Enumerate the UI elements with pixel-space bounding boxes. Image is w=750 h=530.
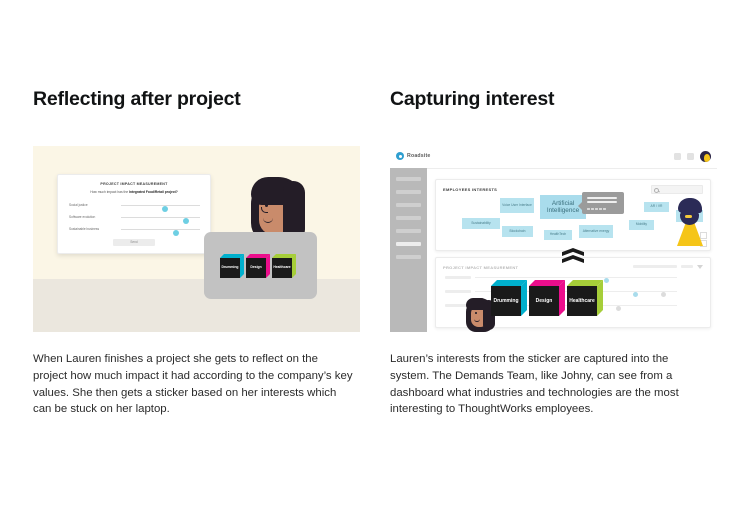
cube-side xyxy=(266,254,270,278)
cube-label: Drumming xyxy=(491,286,521,316)
interest-tag[interactable]: AR / VR xyxy=(644,202,669,212)
survey-slider-track[interactable] xyxy=(121,217,200,218)
interest-tag[interactable]: Alternative energy xyxy=(579,225,613,238)
interest-tag[interactable]: Blockchain xyxy=(502,226,533,237)
johny-character xyxy=(672,198,708,246)
impact-slider-knob[interactable] xyxy=(604,278,609,283)
project-impact-survey-card: PROJECT IMPACT MEASUREMENT How much impa… xyxy=(57,174,211,254)
sidebar-item[interactable] xyxy=(396,216,421,220)
survey-slider-track[interactable] xyxy=(121,229,200,230)
interest-tag[interactable]: Voice User Interface xyxy=(500,198,534,213)
logo-text: Roadsite xyxy=(407,153,431,159)
left-caption: When Lauren finishes a project she gets … xyxy=(33,351,353,418)
grid-icon[interactable] xyxy=(674,153,681,160)
survey-row: Social justice xyxy=(69,201,200,210)
cube-side xyxy=(292,254,296,278)
survey-row-label: Software evolution xyxy=(69,215,115,219)
interests-card-title: EMPLOYEES INTERESTS xyxy=(443,187,497,192)
survey-slider-knob[interactable] xyxy=(183,218,189,224)
hair xyxy=(678,198,702,213)
impact-row-label xyxy=(445,290,471,293)
tooltip-dots xyxy=(587,208,606,211)
dashboard-sidebar xyxy=(390,168,427,332)
survey-slider-knob[interactable] xyxy=(173,230,179,236)
laptop-lid: Drumming Design Healthcare xyxy=(204,232,317,299)
sticker-row: Drumming Design Healthcare xyxy=(220,254,296,278)
right-panel-title: Capturing interest xyxy=(390,88,554,111)
survey-row: Sustainable business xyxy=(69,225,200,234)
beard xyxy=(680,212,699,225)
sticker-cube: Healthcare xyxy=(272,254,296,278)
dashboard-header: Roadsite xyxy=(390,146,717,169)
impact-slider-track[interactable] xyxy=(475,277,677,278)
dashboard-cube: Design xyxy=(529,280,565,316)
avatar[interactable] xyxy=(700,151,711,162)
dashboard-sticker-row: Drumming Design Healthcare xyxy=(491,280,603,316)
cube-label: Design xyxy=(246,258,266,278)
impact-filter-controls[interactable] xyxy=(633,264,703,269)
survey-question-prefix: How much impact has the xyxy=(90,190,129,194)
sidebar-item[interactable] xyxy=(396,203,421,207)
interest-tag[interactable]: HealthTech xyxy=(544,230,572,240)
chevron-up-icon xyxy=(562,248,584,266)
survey-title: PROJECT IMPACT MEASUREMENT xyxy=(58,182,210,186)
tooltip-tail xyxy=(578,202,582,210)
reflecting-illustration: PROJECT IMPACT MEASUREMENT How much impa… xyxy=(33,146,360,332)
cube-side xyxy=(240,254,244,278)
impact-slider-knob[interactable] xyxy=(633,292,638,297)
mouth xyxy=(685,215,692,218)
header-icon-group xyxy=(674,151,711,162)
survey-slider-knob[interactable] xyxy=(162,206,168,212)
sidebar-item-active[interactable] xyxy=(396,242,421,246)
app-logo[interactable]: Roadsite xyxy=(396,152,431,160)
dashboard-cube: Drumming xyxy=(491,280,527,316)
project-impact-card: PROJECT IMPACT MEASUREMENT xyxy=(435,257,711,328)
sidebar-item[interactable] xyxy=(396,229,421,233)
cube-label: Drumming xyxy=(220,258,240,278)
tag-detail-tooltip xyxy=(582,192,624,214)
filter-bar[interactable] xyxy=(633,265,677,268)
filter-bar-secondary[interactable] xyxy=(681,265,693,268)
sidebar-item[interactable] xyxy=(396,190,421,194)
sidebar-item[interactable] xyxy=(396,177,421,181)
cube-label: Design xyxy=(529,286,559,316)
survey-row: Software evolution xyxy=(69,213,200,222)
sticker-cube: Drumming xyxy=(220,254,244,278)
employees-interests-card: EMPLOYEES INTERESTS Sustainability Voice… xyxy=(435,179,711,251)
capturing-illustration: Roadsite xyxy=(390,146,717,332)
eye xyxy=(475,312,477,314)
impact-row-label xyxy=(445,276,471,279)
cube-side xyxy=(597,280,603,316)
cube-side xyxy=(521,280,527,316)
survey-question: How much impact has the Integrated Food/… xyxy=(58,190,210,194)
chevron-down-icon[interactable] xyxy=(697,265,703,269)
left-panel-title: Reflecting after project xyxy=(33,88,241,111)
impact-slider-knob-secondary[interactable] xyxy=(616,306,621,311)
survey-row-label: Sustainable business xyxy=(69,227,115,231)
bell-icon[interactable] xyxy=(687,153,694,160)
sidebar-item[interactable] xyxy=(396,255,421,259)
impact-slider-knob-secondary[interactable] xyxy=(661,292,666,297)
interest-tag[interactable]: Mobility xyxy=(629,220,654,230)
slide-canvas: Reflecting after project PROJECT IMPACT … xyxy=(0,0,750,530)
right-caption: Lauren’s interests from the sticker are … xyxy=(390,351,710,418)
survey-submit-button[interactable]: Send xyxy=(113,239,155,246)
dashboard-cube: Healthcare xyxy=(567,280,603,316)
logo-mark-icon xyxy=(396,152,404,160)
survey-row-label: Social justice xyxy=(69,203,115,207)
survey-slider-track[interactable] xyxy=(121,205,200,206)
eye xyxy=(684,210,686,212)
cube-side xyxy=(559,280,565,316)
search-icon xyxy=(654,188,659,193)
cube-label: Healthcare xyxy=(272,258,292,278)
cube-label: Healthcare xyxy=(567,286,597,316)
survey-question-project: Integrated Food/Retail project? xyxy=(129,190,178,194)
interest-tag[interactable]: Sustainability xyxy=(462,218,500,229)
dashboard-mockup: Roadsite xyxy=(390,146,717,332)
sticker-cube: Design xyxy=(246,254,270,278)
impact-card-title: PROJECT IMPACT MEASUREMENT xyxy=(443,265,518,270)
interests-search-input[interactable] xyxy=(651,185,703,194)
